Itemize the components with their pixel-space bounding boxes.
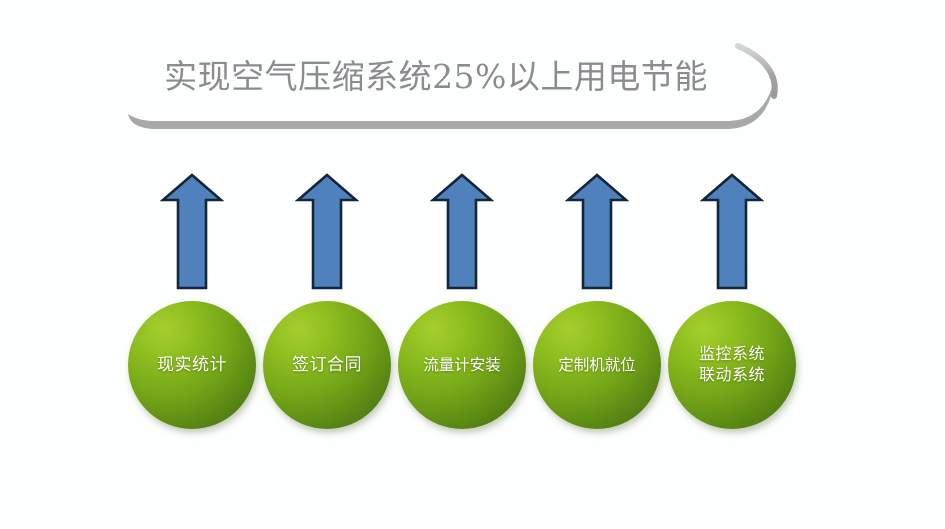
node-label-1: 现实统计 <box>153 354 231 377</box>
arrow-up-5 <box>700 172 764 292</box>
arrow-up-1 <box>160 172 224 292</box>
arrow-up-icon <box>565 172 629 292</box>
arrow-up-icon <box>295 172 359 292</box>
arrow-up-2 <box>295 172 359 292</box>
page-title: 实现空气压缩系统25%以上用电节能 <box>126 36 746 118</box>
slide-canvas: 实现空气压缩系统25%以上用电节能 现实统计 签订合同 流量计安装 定制机 <box>0 0 945 529</box>
arrow-up-icon <box>160 172 224 292</box>
arrow-up-4 <box>565 172 629 292</box>
arrow-up-3 <box>430 172 494 292</box>
node-label-5: 监控系统 联动系统 <box>695 344 769 386</box>
node-circle-4[interactable]: 定制机就位 <box>533 301 661 429</box>
node-circle-3[interactable]: 流量计安装 <box>398 301 526 429</box>
arrow-up-icon <box>700 172 764 292</box>
node-circle-5[interactable]: 监控系统 联动系统 <box>668 301 796 429</box>
node-circle-2[interactable]: 签订合同 <box>263 301 391 429</box>
node-label-4: 定制机就位 <box>554 355 640 376</box>
arrow-up-icon <box>430 172 494 292</box>
title-banner: 实现空气压缩系统25%以上用电节能 <box>126 36 776 134</box>
node-circle-1[interactable]: 现实统计 <box>128 301 256 429</box>
node-label-3: 流量计安装 <box>419 355 505 376</box>
node-label-2: 签订合同 <box>288 354 366 377</box>
